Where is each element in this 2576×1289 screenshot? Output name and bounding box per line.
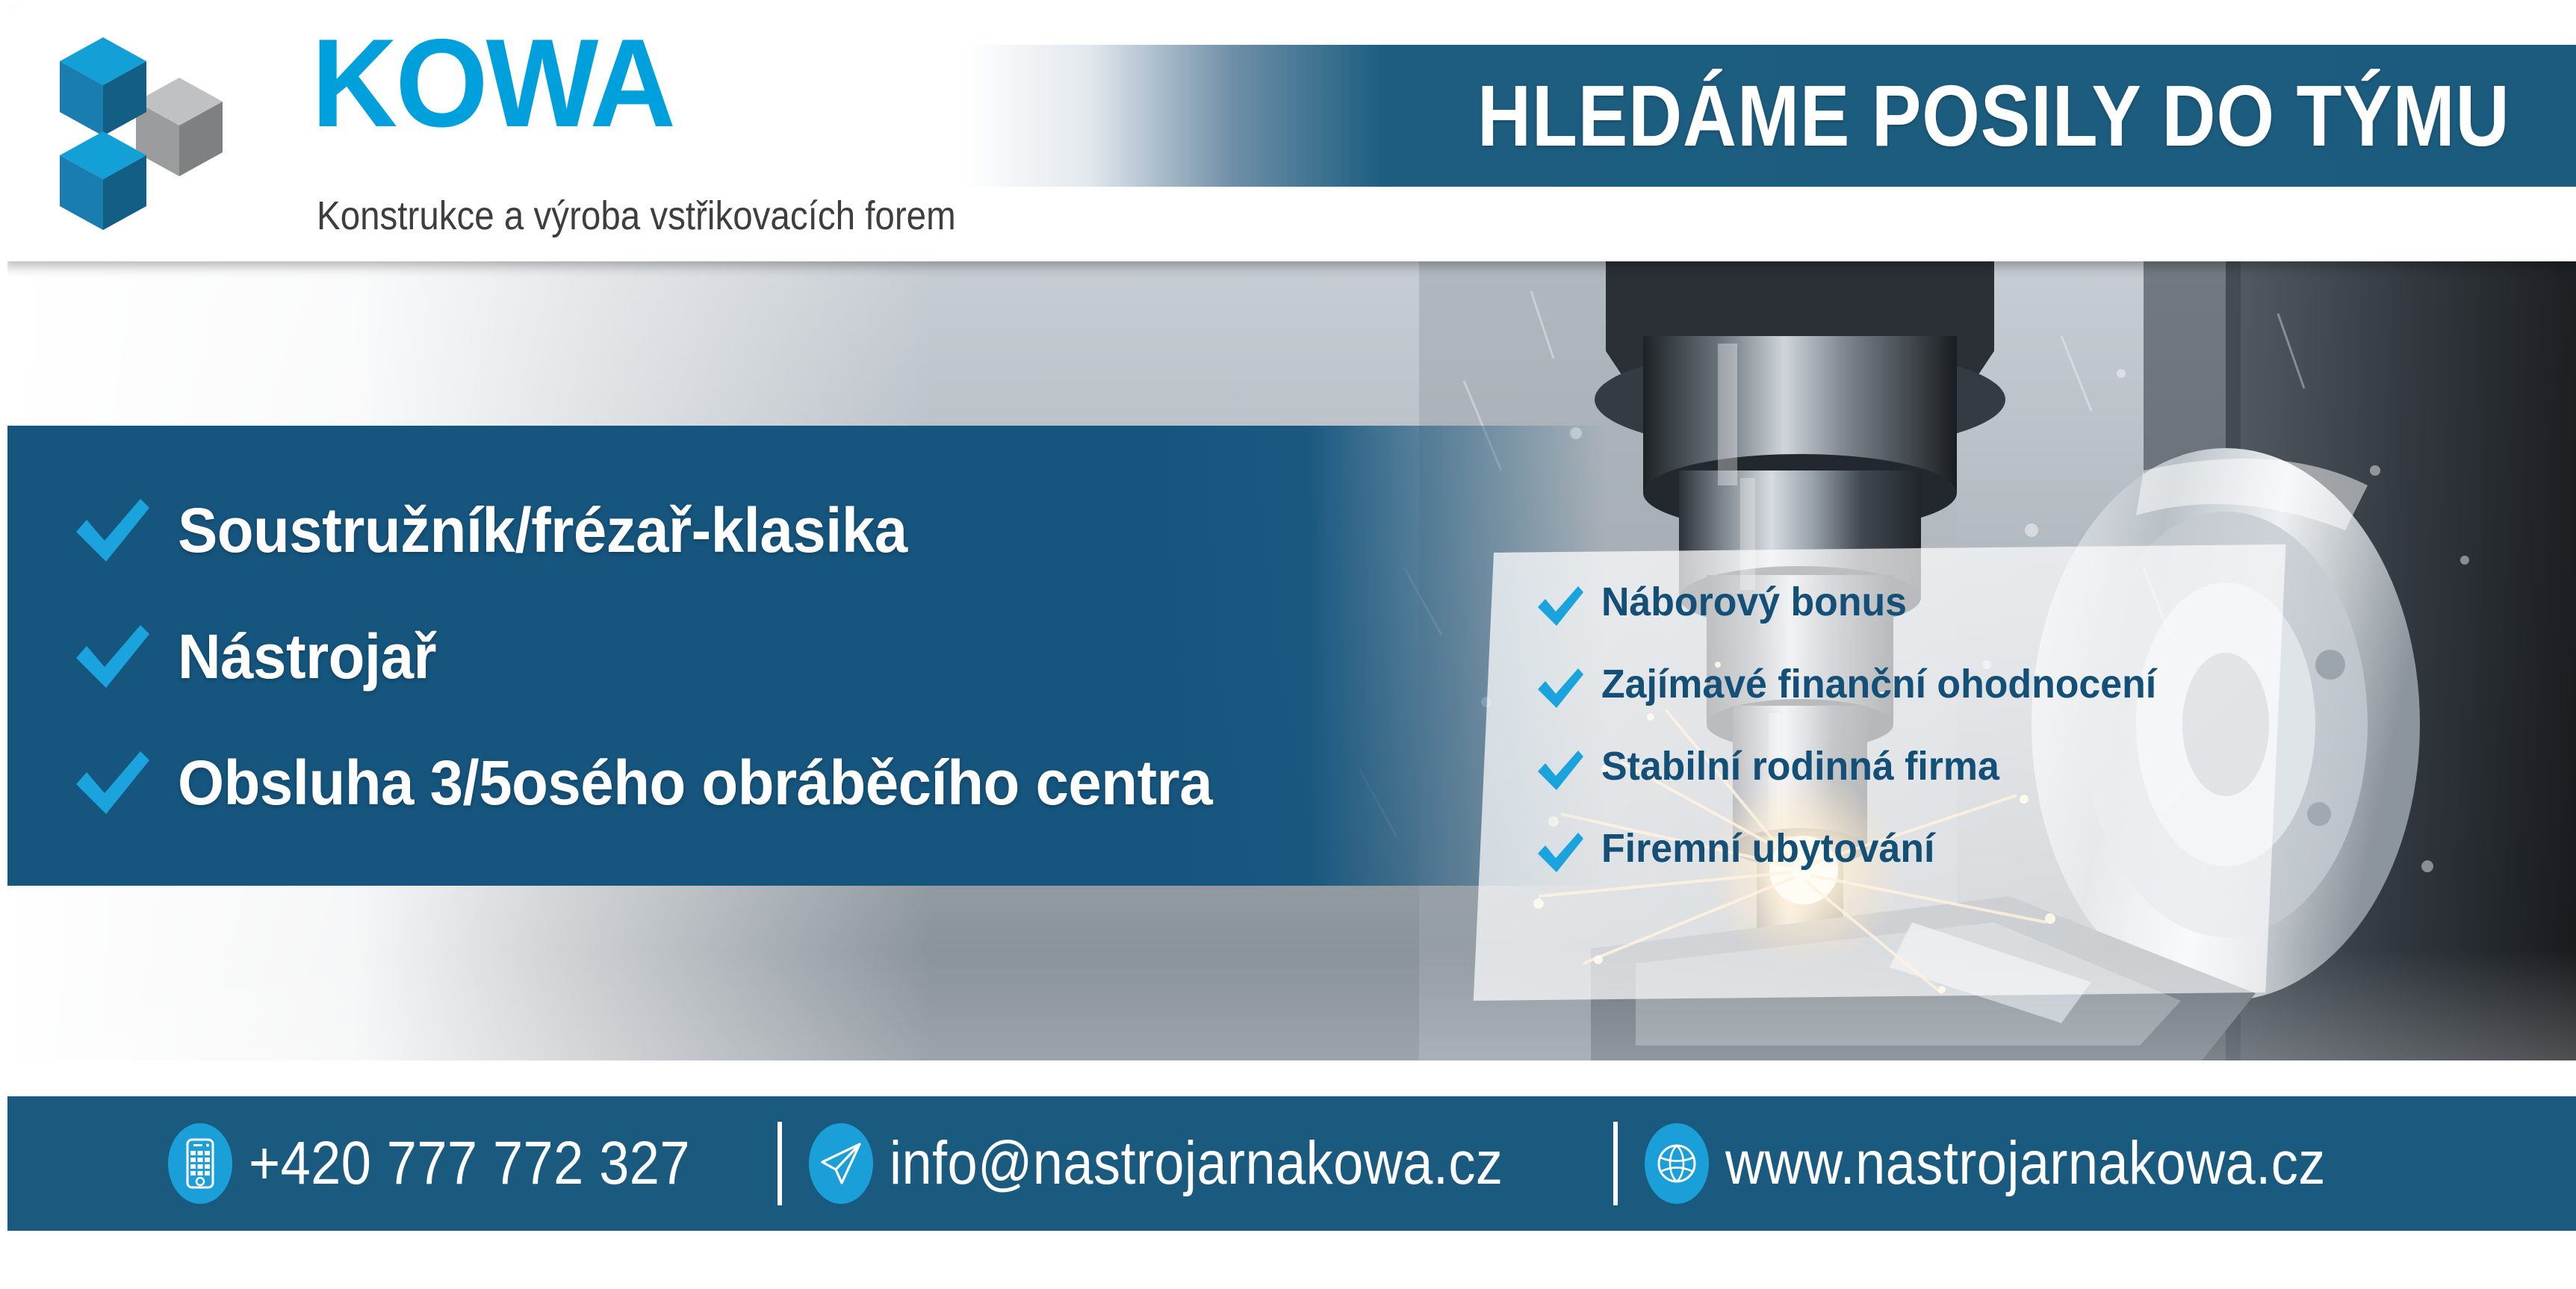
brand-wordmark: KOWA	[311, 27, 674, 140]
check-icon	[72, 750, 152, 817]
globe-icon	[1645, 1123, 1709, 1204]
benefit-list-item: Stabilní rodinná firma	[1536, 744, 2282, 792]
headline-text: HLEDÁME POSILY DO TÝMU	[1478, 66, 2510, 166]
website-url: www.nastrojarnakowa.cz	[1725, 1128, 2326, 1199]
paper-plane-icon	[809, 1123, 873, 1204]
jobs-panel: Soustružník/frézař-klasika Nástrojař Obs…	[0, 426, 1606, 886]
phone-number: +420 777 772 327	[249, 1128, 690, 1199]
job-list-item: Soustružník/frézař-klasika	[72, 494, 1536, 567]
check-icon	[1536, 832, 1585, 874]
check-icon	[72, 624, 152, 691]
job-label: Obsluha 3/5osého obráběcího centra	[178, 747, 1212, 819]
left-edge-mask	[0, 0, 7, 1289]
recruitment-banner: Soustružník/frézař-klasika Nástrojař Obs…	[0, 0, 2576, 1289]
benefit-label: Zajímavé finanční ohodnocení	[1601, 662, 2156, 706]
job-label: Soustružník/frézař-klasika	[178, 494, 907, 567]
job-label: Nástrojař	[178, 621, 436, 693]
job-list-item: Obsluha 3/5osého obráběcího centra	[72, 747, 1536, 819]
brand-tagline: Konstrukce a výroba vstřikovacích forem	[317, 193, 956, 239]
benefit-list-item: Náborový bonus	[1536, 580, 2282, 627]
benefit-list-item: Zajímavé finanční ohodnocení	[1536, 662, 2282, 709]
check-icon	[1536, 750, 1585, 792]
jobs-list: Soustružník/frézař-klasika Nástrojař Obs…	[72, 494, 1536, 819]
contact-email[interactable]: info@nastrojarnakowa.cz	[809, 1123, 1586, 1204]
mobile-phone-icon	[168, 1123, 232, 1204]
footer-card: +420 777 772 327 info@nastrojarnakowa.cz	[0, 1075, 2576, 1289]
job-list-item: Nástrojař	[72, 621, 1536, 693]
contact-bar: +420 777 772 327 info@nastrojarnakowa.cz	[0, 1096, 2576, 1231]
benefit-list-item: Firemní ubytování	[1536, 826, 2282, 874]
contact-divider	[778, 1122, 782, 1205]
benefit-label: Náborový bonus	[1601, 580, 1907, 624]
cube-logo-icon	[39, 13, 226, 252]
logo[interactable]: KOWA Konstrukce a výroba vstřikovacích f…	[39, 13, 1010, 237]
check-icon	[1536, 668, 1585, 709]
headline-banner: HLEDÁME POSILY DO TÝMU	[963, 45, 2576, 187]
contact-website[interactable]: www.nastrojarnakowa.cz	[1645, 1123, 2407, 1204]
check-icon	[1536, 586, 1585, 627]
benefits-list: Náborový bonus Zajímavé finanční ohodnoc…	[1536, 580, 2282, 874]
contact-phone[interactable]: +420 777 772 327	[168, 1123, 751, 1204]
benefits-panel: Náborový bonus Zajímavé finanční ohodnoc…	[1494, 553, 2285, 1001]
contact-divider	[1613, 1122, 1618, 1205]
benefit-label: Stabilní rodinná firma	[1601, 744, 1999, 789]
email-address: info@nastrojarnakowa.cz	[890, 1128, 1503, 1199]
check-icon	[72, 497, 152, 565]
benefit-label: Firemní ubytování	[1601, 826, 1934, 871]
